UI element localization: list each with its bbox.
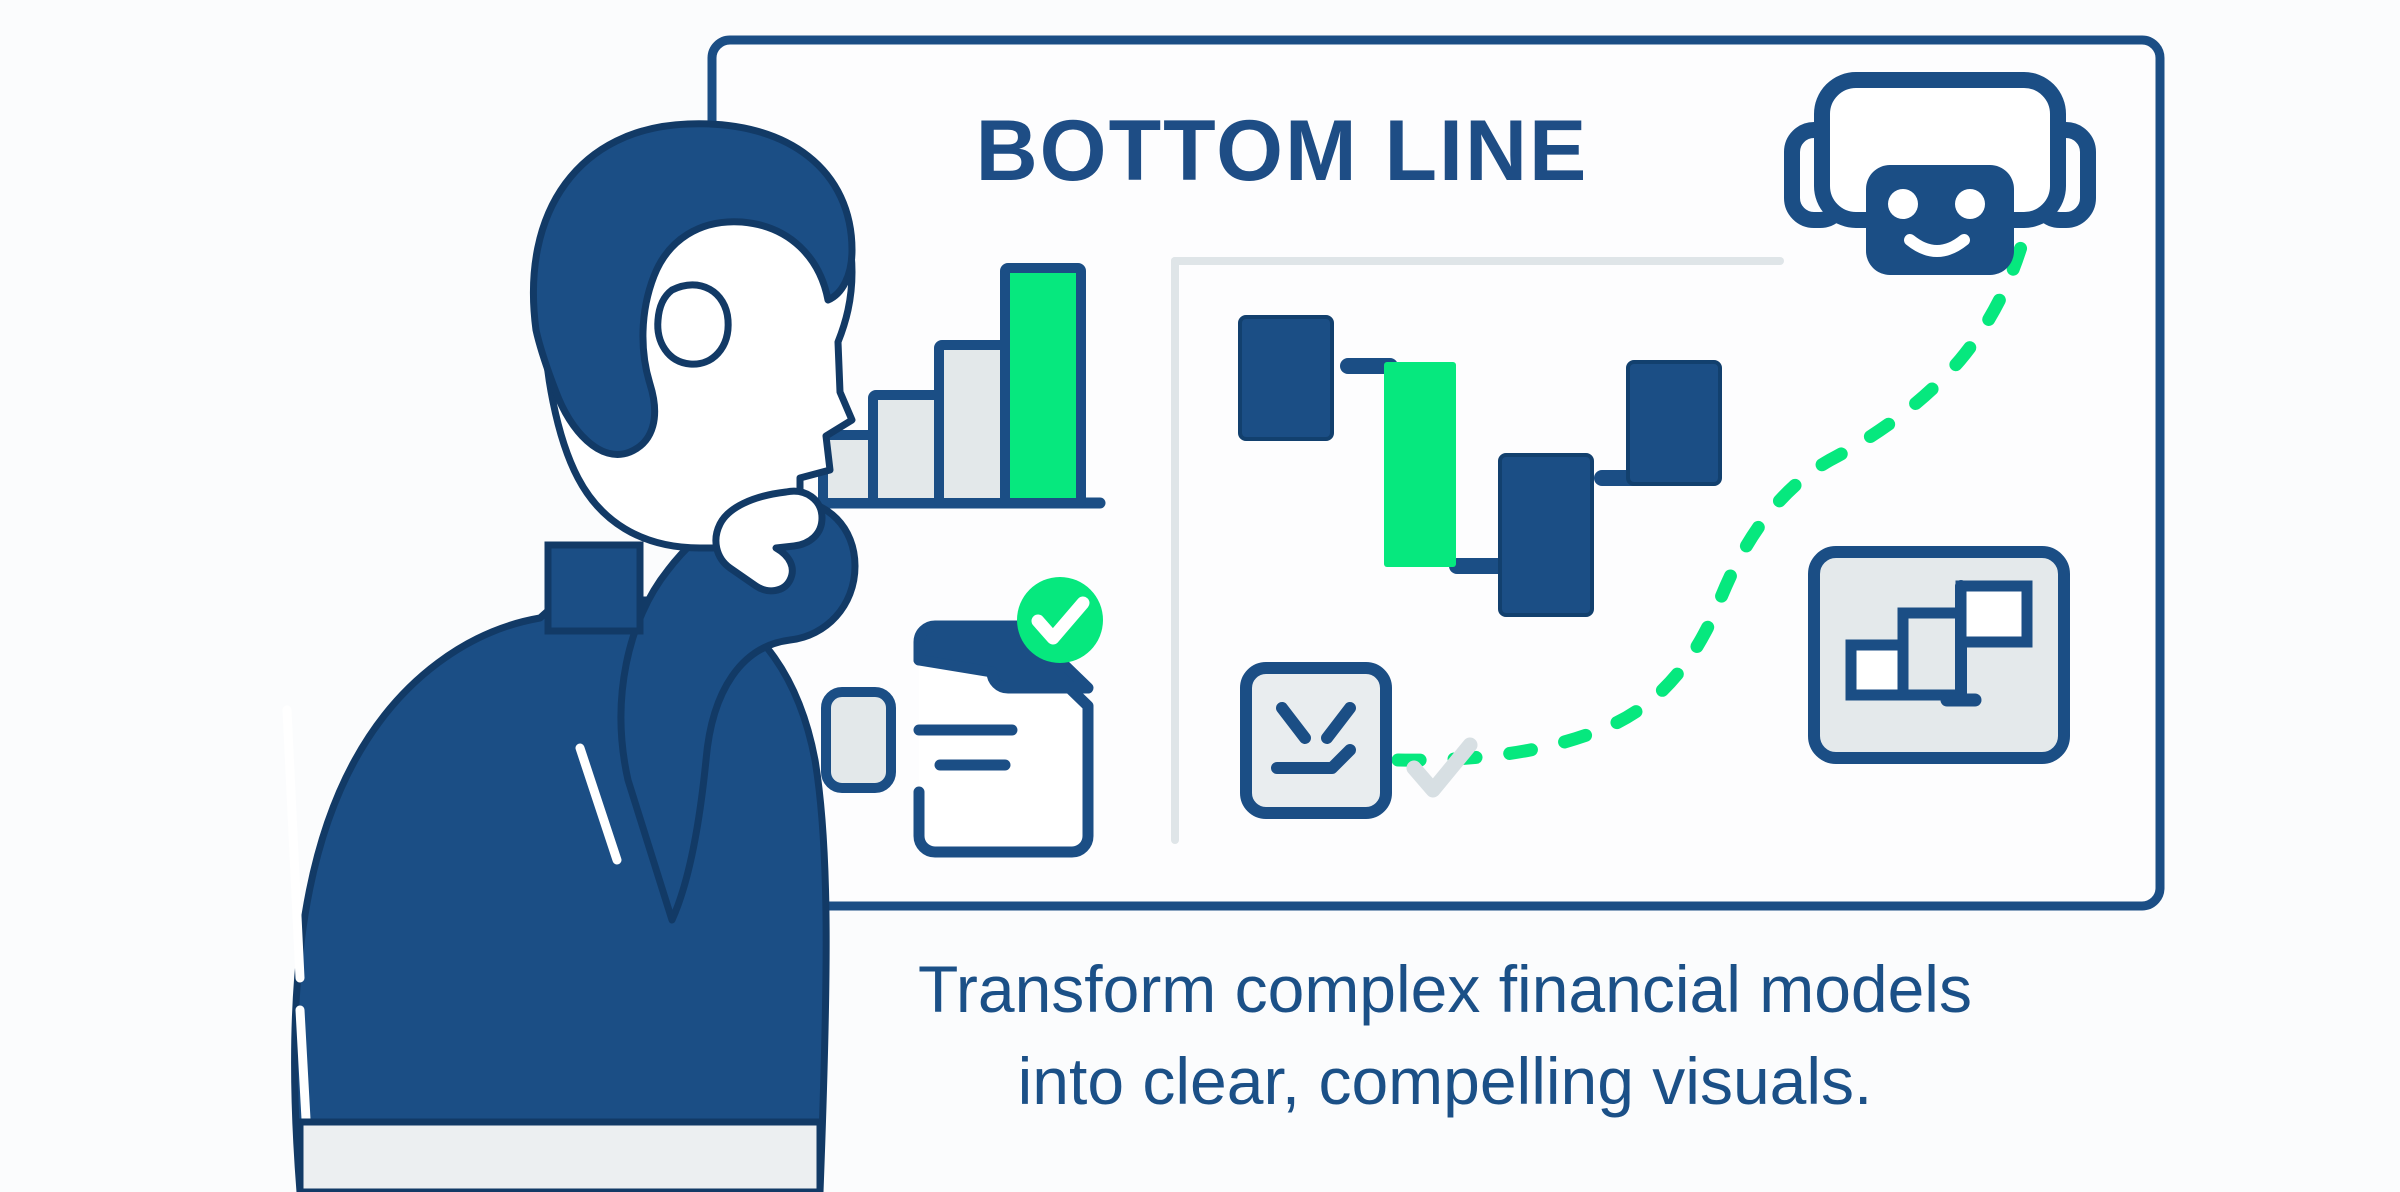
milestone-step-1 bbox=[1851, 645, 1903, 695]
caption-line-1: Transform complex financial models bbox=[918, 952, 1972, 1026]
caption-line-2: into clear, compelling visuals. bbox=[1018, 1044, 1873, 1118]
bar-4-highlighted bbox=[1005, 268, 1081, 503]
collapse-box-frame bbox=[1246, 668, 1386, 813]
person-neck bbox=[548, 545, 640, 631]
page-title: BOTTOM LINE bbox=[976, 103, 1589, 199]
collapse-box-icon bbox=[1246, 668, 1386, 813]
milestone-step-2 bbox=[1903, 613, 1961, 695]
waterfall-block-1 bbox=[1240, 317, 1332, 439]
illustration-canvas: BOTTOM LINE bbox=[0, 0, 2400, 1192]
robot-face-panel bbox=[1866, 165, 2014, 275]
waterfall-block-4 bbox=[1628, 362, 1720, 484]
illustration-scene: BOTTOM LINE bbox=[0, 0, 2400, 1192]
robot-eye-left bbox=[1888, 189, 1918, 219]
milestone-flag-icon bbox=[1814, 552, 2064, 758]
waterfall-block-2-green bbox=[1384, 362, 1456, 567]
document-back-card bbox=[826, 692, 891, 788]
robot-eye-right bbox=[1955, 189, 1985, 219]
person-ear bbox=[658, 285, 728, 364]
person-pants bbox=[300, 1122, 820, 1192]
flag-banner bbox=[1961, 586, 2027, 642]
waterfall-block-3 bbox=[1500, 455, 1592, 615]
